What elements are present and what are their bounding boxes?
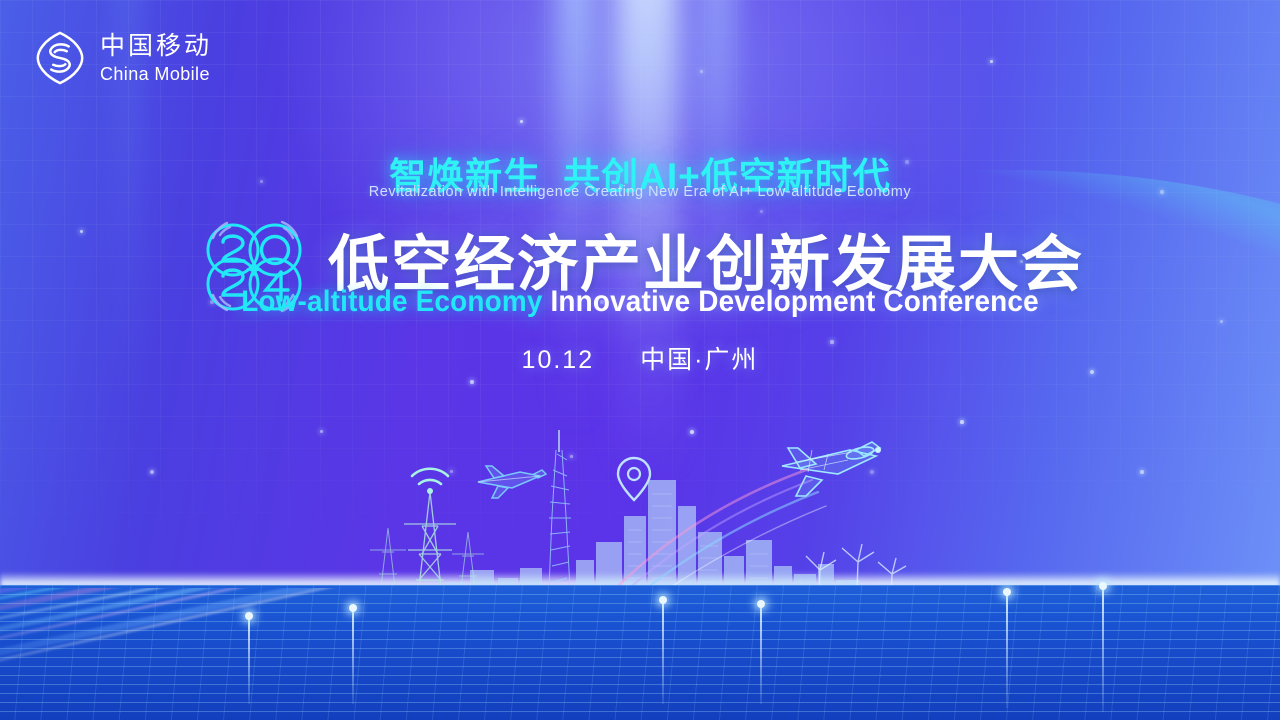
brand-name-cn: 中国移动 xyxy=(100,34,212,59)
light-pole xyxy=(1102,586,1104,712)
conference-poster: 中国移动 China Mobile 智焕新生共创AI+低空新时代 Revital… xyxy=(0,0,1280,720)
light-particle xyxy=(690,430,694,434)
light-particle xyxy=(960,420,964,424)
light-streak xyxy=(0,588,1280,604)
light-particle xyxy=(1140,470,1144,474)
scene-objects xyxy=(0,420,1280,720)
light-pole xyxy=(352,608,354,704)
title-en-highlight: Low-altitude Economy xyxy=(241,285,542,318)
solar-panel-array-icon xyxy=(806,616,964,664)
light-streak xyxy=(0,588,1280,677)
right-wireframe-terrain xyxy=(660,570,1280,680)
wifi-signal-icon xyxy=(412,469,448,494)
light-streak xyxy=(0,588,1280,654)
ground-grid xyxy=(0,585,1280,720)
light-particle xyxy=(520,120,523,123)
light-streak xyxy=(0,588,1280,703)
evtol-aircraft-icon xyxy=(782,442,881,496)
light-particle xyxy=(870,470,874,474)
light-pole xyxy=(760,604,762,704)
light-pole xyxy=(662,600,664,704)
left-wireframe-terrain xyxy=(0,578,400,658)
guangzhou-skyline-icon xyxy=(446,480,860,604)
skyline-windows xyxy=(628,494,768,594)
light-particle xyxy=(470,380,474,384)
glowing-car-icon xyxy=(900,624,1082,670)
airplane-icon xyxy=(478,466,546,498)
horizon-glow xyxy=(0,572,1280,598)
light-streak xyxy=(0,588,1280,621)
event-date: 10.12 xyxy=(522,346,595,374)
canton-tower-icon xyxy=(549,430,571,600)
title-en: Low-altitude Economy Innovative Developm… xyxy=(45,285,1235,319)
light-particle xyxy=(450,470,453,473)
map-location-pin-icon xyxy=(618,458,650,500)
light-streak xyxy=(0,588,1280,663)
light-particle xyxy=(150,470,154,474)
light-streaks xyxy=(0,588,1280,720)
light-streak xyxy=(0,588,1280,597)
light-pole xyxy=(1006,592,1008,708)
brand-name-en: China Mobile xyxy=(100,65,212,83)
wind-turbine-icon xyxy=(806,544,906,620)
light-streak xyxy=(0,588,1280,614)
light-particle xyxy=(320,430,323,433)
light-particle xyxy=(570,455,573,458)
comet-trail xyxy=(608,470,826,614)
light-streak xyxy=(0,588,1280,711)
power-transmission-tower-icon-small xyxy=(370,528,484,596)
light-particle xyxy=(1220,320,1223,323)
ground-plane xyxy=(0,585,1280,720)
tagline-en: Revitalization with Intelligence Creatin… xyxy=(0,184,1280,200)
light-particle xyxy=(700,70,703,73)
event-meta: 10.12中国·广州 xyxy=(0,340,1280,376)
circuit-board-platform-icon xyxy=(548,672,702,720)
light-pole xyxy=(248,616,250,704)
light-streak xyxy=(0,588,1280,633)
power-transmission-tower-icon xyxy=(404,492,456,602)
light-streak xyxy=(0,588,1280,687)
title-en-rest: Innovative Development Conference xyxy=(550,285,1038,318)
light-particle xyxy=(990,60,993,63)
event-location: 中国·广州 xyxy=(640,346,758,374)
light-streak xyxy=(0,588,1280,641)
china-mobile-logo-icon xyxy=(34,30,86,86)
china-mobile-logo: 中国移动 China Mobile xyxy=(34,30,212,86)
cityscape-illustration xyxy=(0,420,1280,720)
